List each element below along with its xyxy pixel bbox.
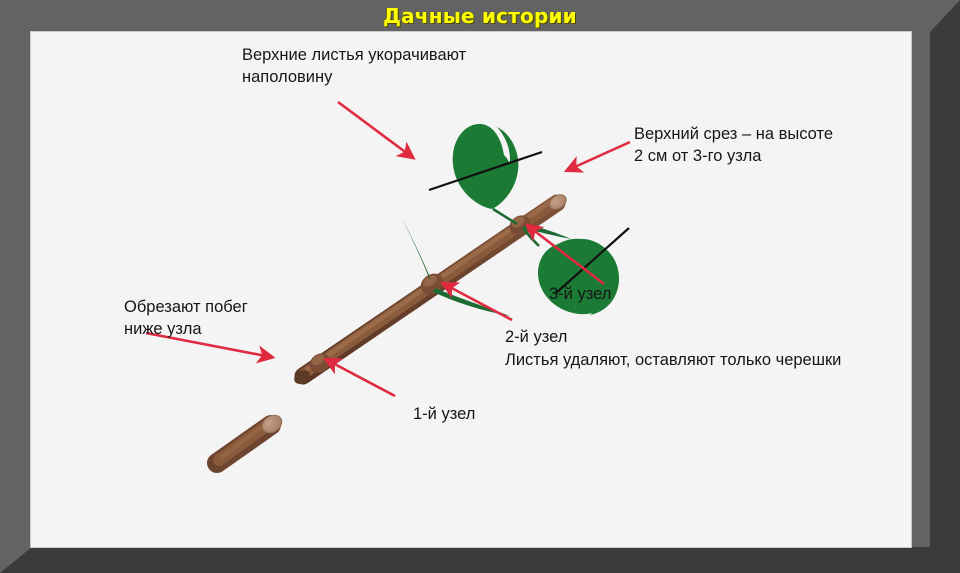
cut-off-stem-segment xyxy=(217,411,285,463)
label-top-leaves: Верхние листья укорачивают наполовину xyxy=(242,44,466,88)
leaf-upper-left-petiole xyxy=(493,209,517,224)
label-leaves-removed: Листья удаляют, оставляют только черешки xyxy=(505,349,841,371)
label-cut-below-node: Обрезают побег ниже узла xyxy=(124,296,248,340)
diagram-illustration xyxy=(31,32,911,547)
label-node-3: 3-й узел xyxy=(549,283,611,305)
arrow-to-upper-cut xyxy=(568,142,630,170)
arrow-to-node2 xyxy=(444,284,512,320)
page-title: Дачные истории xyxy=(383,4,577,28)
title-bar: Дачные истории xyxy=(0,0,960,32)
label-upper-cut: Верхний срез – на высоте 2 см от 3-го уз… xyxy=(634,123,833,167)
label-node-1: 1-й узел xyxy=(413,403,475,425)
screenshot-root: Дачные истории xyxy=(0,0,960,573)
arrow-to-top-leaves xyxy=(338,102,412,157)
leaf-upper-left xyxy=(429,124,542,224)
label-node-2: 2-й узел xyxy=(505,326,567,348)
petiole-up-left xyxy=(401,216,431,280)
arrow-to-node1 xyxy=(327,360,395,396)
